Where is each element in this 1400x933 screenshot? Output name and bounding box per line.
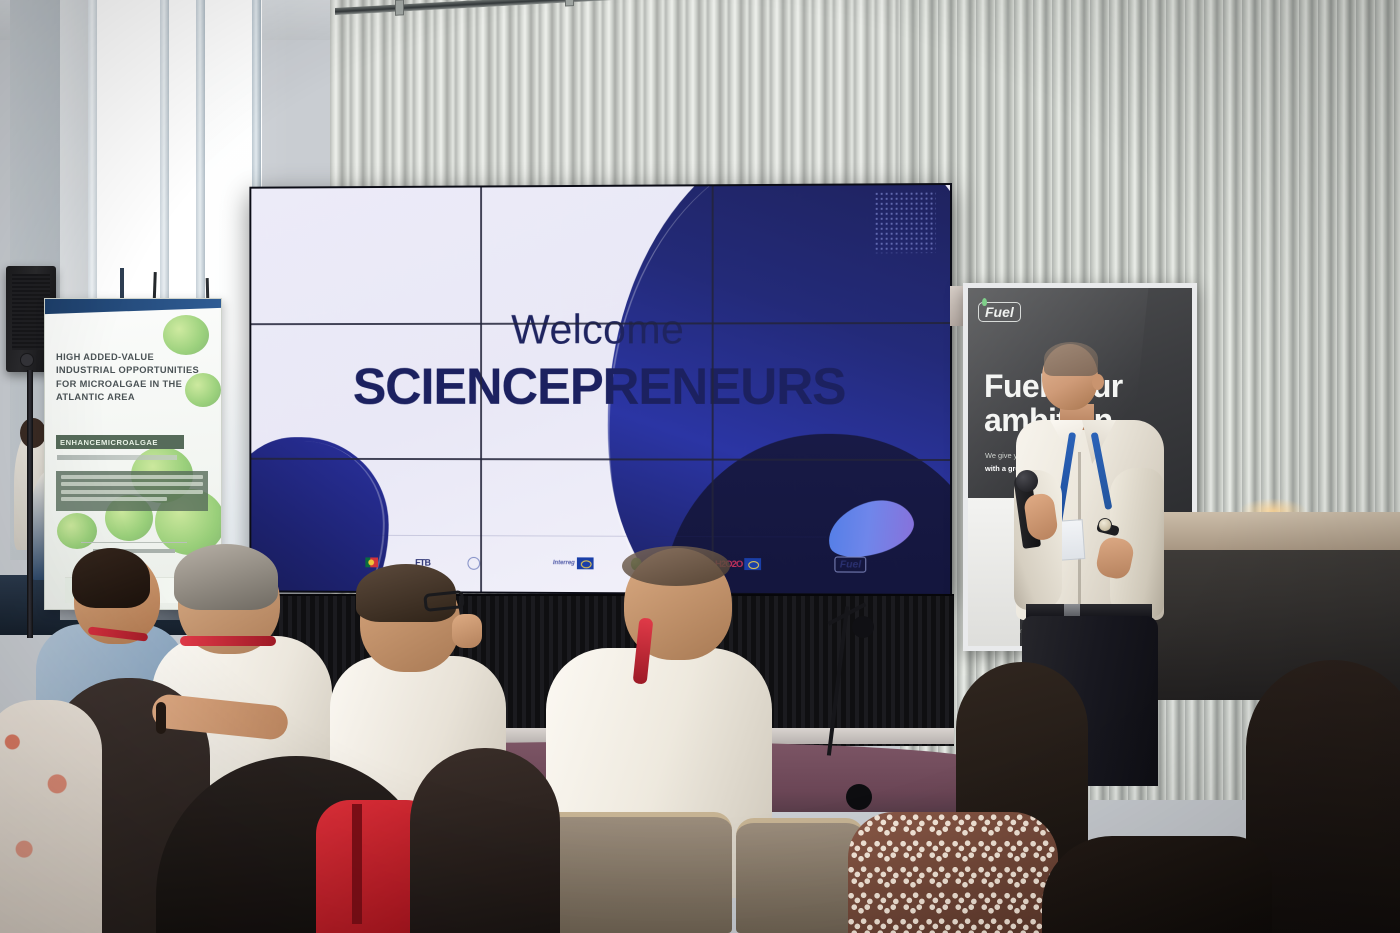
video-wall: Welcome SCIENCEPRENEURS FTB Interreg: [249, 183, 952, 596]
presenter-ear: [1092, 374, 1104, 390]
attendee-bald-hair-fringe: [622, 546, 730, 586]
mic-stand-base: [846, 784, 872, 810]
attendee-grey-hair: [174, 544, 278, 610]
attendee-grey-hair-lanyard: [180, 636, 276, 646]
poster-subtitle-bar: [57, 455, 177, 460]
fuel-brand-logo: Fuel: [978, 302, 1021, 322]
slide-dot-pattern: [874, 191, 936, 253]
chair: [736, 818, 864, 933]
slide-welcome-text: Welcome: [251, 305, 950, 354]
background-attendee-2: [20, 418, 46, 448]
attendee-polka-dot-dress: [848, 812, 1058, 933]
video-wall-seam: [712, 186, 714, 593]
attendee-red-bag-strap: [352, 804, 362, 924]
slide-headline: SCIENCEPRENEURS: [251, 357, 950, 417]
poster-top-band: [45, 298, 221, 314]
speaker-woofer: [20, 353, 34, 367]
fuel-logo: Fuel: [835, 554, 866, 576]
circle-institution-logo: [468, 552, 516, 574]
presenter-hair: [1044, 342, 1098, 376]
presentation-slide: Welcome SCIENCEPRENEURS FTB Interreg: [251, 185, 950, 594]
poster-project-tag: ENHANCEMICROALGAE: [56, 435, 184, 449]
poster-divider: [81, 542, 187, 543]
attendee-long-hair-mid: [410, 748, 560, 933]
side-table: [1150, 512, 1400, 554]
attendee-blue-shirt-hair: [72, 548, 150, 608]
banner-foreground-paper: [966, 498, 1020, 651]
attendee-patterned-top: [0, 700, 102, 933]
speaker-stand-pole: [27, 370, 33, 638]
interreg-atlantic-area-logo: Interreg: [553, 552, 594, 574]
poster-body-text: [56, 471, 208, 511]
attendee-far-right-shoulder: [1042, 836, 1272, 933]
mic-windscreen: [852, 616, 874, 638]
video-wall-seam: [480, 187, 482, 591]
conference-photo-scene: HIGH ADDED-VALUE INDUSTRIAL OPPORTUNITIE…: [0, 0, 1400, 933]
attendee-bracelet: [156, 702, 166, 734]
attendee-glasses-hand: [452, 614, 482, 648]
poster-title: HIGH ADDED-VALUE INDUSTRIAL OPPORTUNITIE…: [56, 351, 208, 405]
